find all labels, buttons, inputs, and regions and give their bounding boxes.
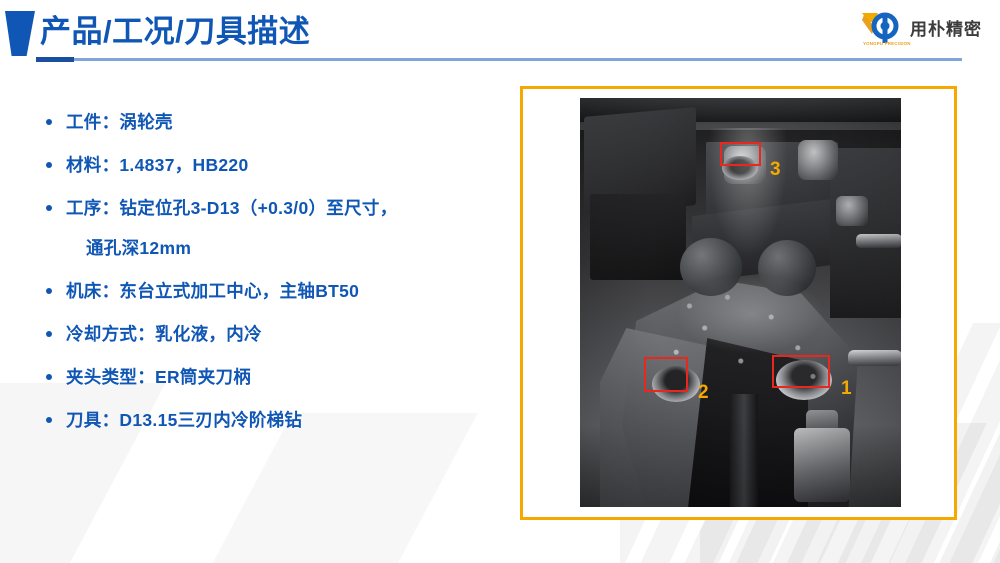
header-rule bbox=[36, 58, 962, 61]
machining-photo: 3 2 1 bbox=[580, 98, 901, 507]
list-item: 夹头类型：ER筒夹刀柄 bbox=[46, 357, 516, 397]
annotation-box-1 bbox=[772, 355, 830, 388]
bullet-dot-icon bbox=[46, 374, 52, 380]
annotation-label-1: 1 bbox=[841, 379, 852, 398]
logo-subtext: YONGPU PRECISION bbox=[863, 41, 911, 46]
description-bullet-list: 工件：涡轮壳 材料：1.4837，HB220 工序：钻定位孔3-D13（+0.3… bbox=[46, 102, 516, 443]
title-marker-shape bbox=[5, 11, 35, 56]
bullet-dot-icon bbox=[46, 331, 52, 337]
list-item-label-continued: 通孔深12mm bbox=[86, 228, 398, 268]
logo-mark-icon: YONGPU PRECISION bbox=[862, 9, 904, 45]
annotation-label-3: 3 bbox=[770, 160, 781, 179]
list-item-label: 工序：钻定位孔3-D13（+0.3/0）至尺寸， bbox=[66, 188, 398, 228]
list-item: 工序：钻定位孔3-D13（+0.3/0）至尺寸， 通孔深12mm bbox=[46, 188, 516, 268]
annotation-label-2: 2 bbox=[698, 383, 709, 402]
header-rule-accent bbox=[36, 57, 74, 62]
list-item-label: 工件：涡轮壳 bbox=[66, 102, 173, 142]
bullet-dot-icon bbox=[46, 119, 52, 125]
bullet-dot-icon bbox=[46, 417, 52, 423]
annotation-box-2 bbox=[644, 357, 688, 392]
photo-frame: 3 2 1 bbox=[520, 86, 957, 520]
list-item-label: 夹头类型：ER筒夹刀柄 bbox=[66, 357, 251, 397]
bullet-dot-icon bbox=[46, 288, 52, 294]
slide: 产品/工况/刀具描述 YONGPU PRECISION 用朴精密 工件：涡轮壳 bbox=[0, 0, 1000, 563]
list-item-label: 冷却方式：乳化液，内冷 bbox=[66, 314, 262, 354]
page-title: 产品/工况/刀具描述 bbox=[40, 8, 310, 56]
list-item: 工件：涡轮壳 bbox=[46, 102, 516, 142]
list-item-label: 机床：东台立式加工中心，主轴BT50 bbox=[66, 271, 359, 311]
list-item-label: 材料：1.4837，HB220 bbox=[66, 145, 249, 185]
logo-company-name: 用朴精密 bbox=[910, 15, 982, 40]
list-item: 材料：1.4837，HB220 bbox=[46, 145, 516, 185]
list-item: 刀具：D13.15三刃内冷阶梯钻 bbox=[46, 400, 516, 440]
slide-header: 产品/工况/刀具描述 YONGPU PRECISION 用朴精密 bbox=[0, 0, 1000, 70]
list-item: 机床：东台立式加工中心，主轴BT50 bbox=[46, 271, 516, 311]
bullet-dot-icon bbox=[46, 205, 52, 211]
bullet-dot-icon bbox=[46, 162, 52, 168]
list-item-label: 刀具：D13.15三刃内冷阶梯钻 bbox=[66, 400, 302, 440]
annotation-box-3 bbox=[720, 142, 761, 166]
list-item: 冷却方式：乳化液，内冷 bbox=[46, 314, 516, 354]
company-logo: YONGPU PRECISION 用朴精密 bbox=[862, 9, 982, 45]
